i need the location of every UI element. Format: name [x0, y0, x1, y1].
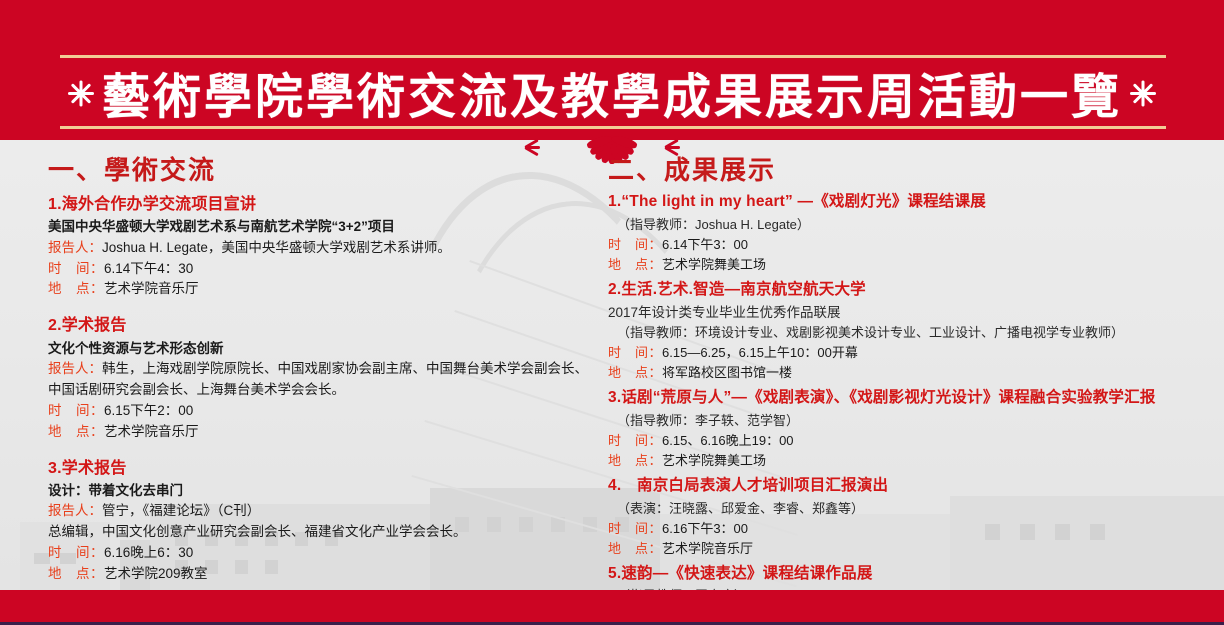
time-value: 6.15下午2：00 [104, 403, 193, 418]
event-subtitle: 美国中央华盛顿大学戏剧艺术系与南航艺术学院“3+2”项目 [48, 217, 600, 237]
place-label: 地 点： [48, 424, 104, 439]
speaker-label: 报告人： [48, 361, 102, 376]
place-label: 地 点： [608, 453, 662, 468]
speaker-value: 管宁，《福建论坛》（C刊） [102, 503, 260, 518]
place-label: 地 点： [608, 365, 662, 380]
time-label: 时 间： [48, 403, 104, 418]
poster-canvas: 藝術學院學術交流及教學成果展示周活動一覽 一、學術交流 [0, 0, 1224, 625]
event-place-line: 地 点：艺术学院音乐厅 [608, 539, 1224, 559]
time-label: 时 间： [48, 261, 104, 276]
place-value: 艺术学院舞美工场 [662, 257, 766, 272]
time-value: 6.16下午3：00 [662, 521, 748, 536]
event-item[interactable]: 1.海外合作办学交流项目宣讲 美国中央华盛顿大学戏剧艺术系与南航艺术学院“3+2… [48, 193, 600, 300]
poster-footer-bar [0, 590, 1224, 625]
event-time-line: 时 间：6.15下午2：00 [48, 401, 600, 422]
event-place-line: 地 点：艺术学院舞美工场 [608, 451, 1224, 471]
place-label: 地 点： [608, 541, 662, 556]
place-label: 地 点： [48, 566, 104, 581]
event-speaker-continuation: 总编辑，中国文化创意产业研究会副会长、福建省文化产业学会会长。 [48, 522, 600, 543]
event-item[interactable]: 1.“The light in my heart” —《戏剧灯光》课程结课展 （… [608, 191, 1224, 275]
event-instructor-note: （指导教师：Joshua H. Legate） [608, 215, 1224, 235]
event-performer-note: （表演：汪晓露、邱爱金、李睿、郑鑫等） [608, 499, 1224, 519]
speaker-label: 报告人： [48, 503, 102, 518]
place-label: 地 点： [608, 257, 662, 272]
content-columns: 一、學術交流 1.海外合作办学交流项目宣讲 美国中央华盛顿大学戏剧艺术系与南航艺… [0, 140, 1224, 590]
event-place-line: 地 点：艺术学院舞美工场 [608, 255, 1224, 275]
place-value: 艺术学院音乐厅 [662, 541, 753, 556]
time-label: 时 间： [608, 237, 662, 252]
event-time-line: 时 间：6.15—6.25，6.15上午10：00开幕 [608, 343, 1224, 363]
event-item[interactable]: 4. 南京白局表演人才培训项目汇报演出 （表演：汪晓露、邱爱金、李睿、郑鑫等） … [608, 475, 1224, 559]
event-place-line: 地 点：艺术学院209教室 [48, 564, 600, 585]
event-speaker-continuation: 中国话剧研究会副会长、上海舞台美术学会会长。 [48, 380, 600, 401]
snowflake-ornament-icon [1128, 75, 1158, 109]
time-value: 6.14下午3：00 [662, 237, 748, 252]
event-speaker-line: 报告人：韩生，上海戏剧学院原院长、中国戏剧家协会副主席、中国舞台美术学会副会长、 [48, 359, 600, 380]
banner-title-row: 藝術學院學術交流及教學成果展示周活動一覽 [0, 58, 1224, 126]
event-title: 3.学术报告 [48, 457, 600, 480]
event-place-line: 地 点：艺术学院音乐厅 [48, 422, 600, 443]
event-item[interactable]: 2.生活.艺术.智造—南京航空航天大学 2017年设计类专业毕业生优秀作品联展 … [608, 279, 1224, 383]
place-label: 地 点： [48, 281, 104, 296]
time-label: 时 间： [48, 545, 104, 560]
event-title: 3.话剧“荒原与人”—《戏剧表演》、《戏剧影视灯光设计》课程融合实验教学汇报 [608, 387, 1224, 409]
speaker-value: 韩生，上海戏剧学院原院长、中国戏剧家协会副主席、中国舞台美术学会副会长、 [102, 361, 588, 376]
time-value: 6.14下午4：30 [104, 261, 193, 276]
event-time-line: 时 间：6.14下午3：00 [608, 235, 1224, 255]
event-item[interactable]: 3.话剧“荒原与人”—《戏剧表演》、《戏剧影视灯光设计》课程融合实验教学汇报 （… [608, 387, 1224, 471]
event-time-line: 时 间：6.16晚上6：30 [48, 543, 600, 564]
time-label: 时 间： [608, 521, 662, 536]
event-time-line: 时 间：6.15、6.16晚上19：00 [608, 431, 1224, 451]
time-value: 6.16晚上6：30 [104, 545, 193, 560]
time-label: 时 间： [608, 345, 662, 360]
poster-header-banner: 藝術學院學術交流及教學成果展示周活動一覽 [0, 0, 1224, 140]
event-title: 1.“The light in my heart” —《戏剧灯光》课程结课展 [608, 191, 1224, 213]
event-place-line: 地 点：将军路校区图书馆一楼 [608, 363, 1224, 383]
page-title: 藝術學院學術交流及教學成果展示周活動一覽 [102, 57, 1122, 127]
event-place-line: 地 点：艺术学院音乐厅 [48, 279, 600, 300]
snowflake-ornament-icon [66, 75, 96, 109]
event-instructor-note: （指导教师：环境设计专业、戏剧影视美术设计专业、工业设计、广播电视学专业教师） [608, 323, 1224, 343]
event-subtitle: 设计：带着文化去串门 [48, 481, 600, 501]
event-time-line: 时 间：6.14下午4：30 [48, 259, 600, 280]
event-time-line: 时 间：6.16下午3：00 [608, 519, 1224, 539]
event-title: 2.学术报告 [48, 314, 600, 337]
event-title: 2.生活.艺术.智造—南京航空航天大学 [608, 279, 1224, 301]
time-label: 时 间： [608, 433, 662, 448]
time-value: 6.15—6.25，6.15上午10：00开幕 [662, 345, 858, 360]
event-item[interactable]: 3.学术报告 设计：带着文化去串门 报告人：管宁，《福建论坛》（C刊） 总编辑，… [48, 457, 600, 585]
place-value: 艺术学院舞美工场 [662, 453, 766, 468]
place-value: 艺术学院音乐厅 [104, 424, 199, 439]
time-value: 6.15、6.16晚上19：00 [662, 433, 794, 448]
event-speaker-line: 报告人：管宁，《福建论坛》（C刊） [48, 501, 600, 522]
section-heading-right: 二、成果展示 [608, 156, 1224, 187]
event-title: 5.速韵—《快速表达》课程结课作品展 [608, 563, 1224, 585]
section-heading-left: 一、學術交流 [48, 156, 600, 187]
event-speaker-line: 报告人：Joshua H. Legate，美国中央华盛顿大学戏剧艺术系讲师。 [48, 238, 600, 259]
speaker-label: 报告人： [48, 240, 102, 255]
place-value: 艺术学院音乐厅 [104, 281, 199, 296]
column-academic-exchange: 一、學術交流 1.海外合作办学交流项目宣讲 美国中央华盛顿大学戏剧艺术系与南航艺… [0, 140, 600, 590]
event-subtitle: 文化个性资源与艺术形态创新 [48, 339, 600, 359]
place-value: 艺术学院209教室 [104, 566, 208, 581]
place-value: 将军路校区图书馆一楼 [662, 365, 792, 380]
event-item[interactable]: 2.学术报告 文化个性资源与艺术形态创新 报告人：韩生，上海戏剧学院原院长、中国… [48, 314, 600, 442]
event-title: 4. 南京白局表演人才培训项目汇报演出 [608, 475, 1224, 497]
event-instructor-note: （指导教师：李子轶、范学智） [608, 411, 1224, 431]
column-achievement-exhibition: 二、成果展示 1.“The light in my heart” —《戏剧灯光》… [600, 140, 1224, 590]
speaker-value: Joshua H. Legate，美国中央华盛顿大学戏剧艺术系讲师。 [102, 240, 451, 255]
event-title: 1.海外合作办学交流项目宣讲 [48, 193, 600, 216]
event-subtitle: 2017年设计类专业毕业生优秀作品联展 [608, 303, 1224, 323]
